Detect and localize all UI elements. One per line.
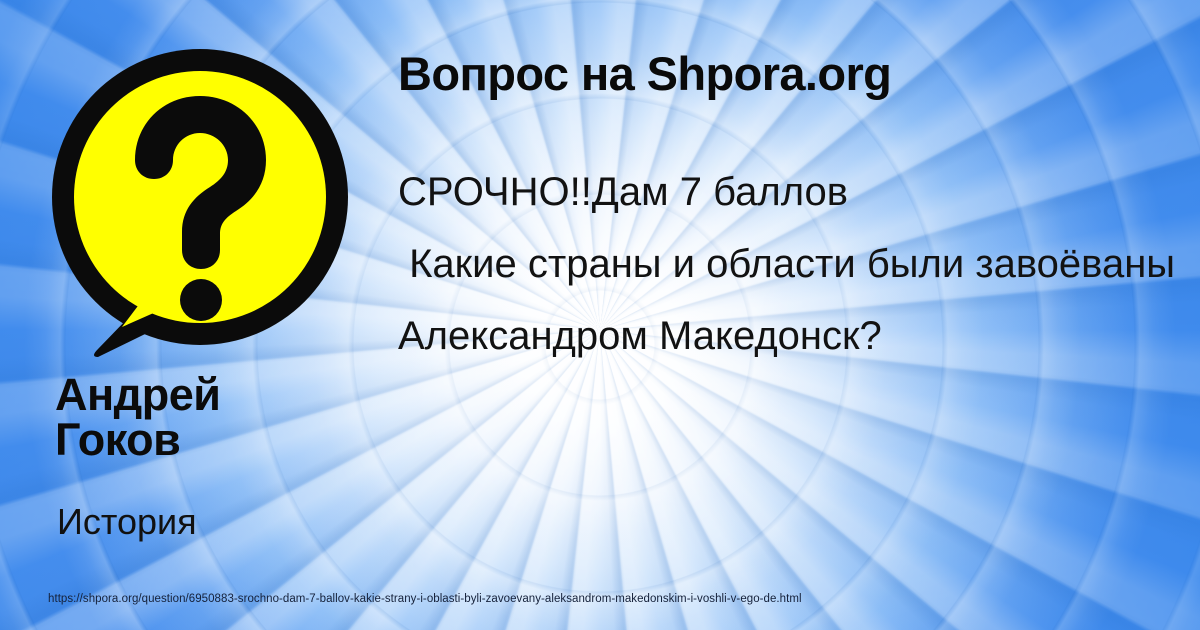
page-title: Вопрос на Shpora.org <box>398 50 891 97</box>
source-url[interactable]: https://shpora.org/question/6950883-sroc… <box>48 592 802 606</box>
author-name-line-2: Гоков <box>55 414 180 465</box>
question-column: Вопрос на Shpora.org СРОЧНО!!Дам 7 балло… <box>396 0 1196 630</box>
author-name-line-1: Андрей <box>55 369 220 420</box>
question-speech-bubble-icon <box>40 44 360 364</box>
card-content: АндрейГоков История Вопрос на Shpora.org… <box>0 0 1200 630</box>
question-share-card: АндрейГоков История Вопрос на Shpora.org… <box>0 0 1200 630</box>
author-column: АндрейГоков История <box>0 0 390 630</box>
author-name: АндрейГоков <box>55 372 375 462</box>
author-subject-label: История <box>57 504 197 540</box>
question-text: СРОЧНО!!Дам 7 баллов Какие страны и обла… <box>398 156 1188 372</box>
